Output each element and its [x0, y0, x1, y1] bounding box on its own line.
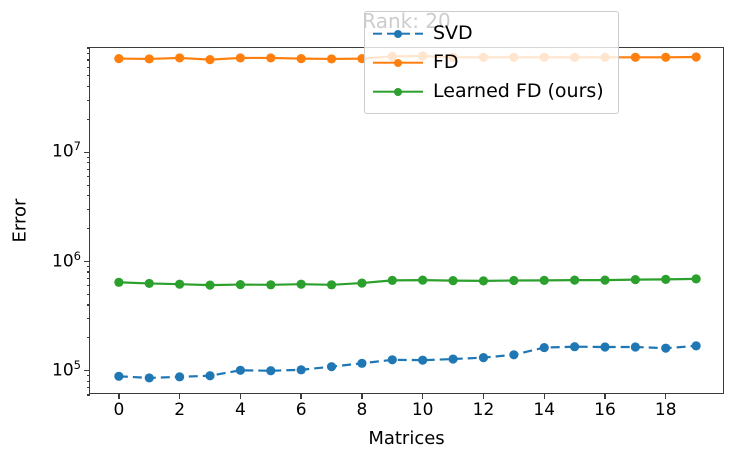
y-minor-tick-mark	[87, 318, 91, 319]
data-point	[266, 366, 275, 375]
y-minor-tick-mark	[87, 304, 91, 305]
x-axis-label: Matrices	[89, 428, 724, 449]
x-tick-label: 4	[235, 402, 246, 419]
x-tick-mark	[483, 393, 484, 399]
data-point	[692, 52, 701, 61]
data-point	[236, 53, 245, 62]
data-point	[540, 343, 549, 352]
legend-label-fd: FD	[433, 53, 459, 72]
data-point	[692, 341, 701, 350]
data-point	[297, 54, 306, 63]
x-tick-label: 2	[174, 402, 185, 419]
data-point	[266, 280, 275, 289]
data-point	[600, 342, 609, 351]
x-tick-label: 16	[594, 402, 616, 419]
legend-swatch-learned-fd	[373, 85, 423, 99]
y-minor-tick-mark	[87, 266, 91, 267]
x-tick-label: 0	[113, 402, 124, 419]
data-point	[297, 280, 306, 289]
x-tick-mark	[361, 393, 362, 399]
x-tick-mark	[118, 393, 119, 399]
y-minor-tick-mark	[87, 387, 91, 388]
y-minor-tick-mark	[87, 185, 91, 186]
data-point	[661, 275, 670, 284]
data-point	[236, 280, 245, 289]
y-minor-tick-mark	[87, 228, 91, 229]
data-point	[388, 276, 397, 285]
x-tick-label: 18	[655, 402, 677, 419]
y-minor-tick-mark	[87, 86, 91, 87]
data-point	[327, 362, 336, 371]
y-minor-tick-mark	[87, 375, 91, 376]
x-tick-mark	[422, 393, 423, 399]
y-minor-tick-mark	[87, 278, 91, 279]
data-point	[205, 55, 214, 64]
y-tick-label: 106	[52, 253, 81, 270]
x-tick-mark	[544, 393, 545, 399]
legend-item-fd[interactable]: FD	[373, 48, 608, 77]
y-tick-label: 107	[52, 144, 81, 161]
data-point	[266, 53, 275, 62]
x-tick-mark	[300, 393, 301, 399]
data-point	[297, 365, 306, 374]
data-point	[388, 355, 397, 364]
x-tick-label: 12	[473, 402, 495, 419]
legend-swatch-fd	[373, 56, 423, 70]
data-point	[236, 366, 245, 375]
data-point	[448, 276, 457, 285]
data-point	[631, 53, 640, 62]
data-point	[145, 373, 154, 382]
legend-label-learned-fd: Learned FD (ours)	[433, 82, 604, 101]
data-point	[631, 275, 640, 284]
x-tick-label: 8	[357, 402, 368, 419]
y-minor-tick-mark	[87, 157, 91, 158]
legend: SVD FD Learned FD (ours)	[364, 11, 619, 114]
y-minor-tick-mark	[87, 394, 91, 395]
legend-label-svd: SVD	[433, 24, 473, 43]
data-point	[205, 371, 214, 380]
y-tick-mark	[84, 261, 90, 262]
y-minor-tick-mark	[87, 119, 91, 120]
data-point	[509, 350, 518, 359]
y-minor-tick-mark	[87, 337, 91, 338]
legend-swatch-svd	[373, 27, 423, 41]
legend-marker-icon	[394, 59, 402, 67]
data-point	[175, 372, 184, 381]
data-point	[327, 54, 336, 63]
x-tick-mark	[604, 393, 605, 399]
data-point	[114, 278, 123, 287]
data-point	[145, 279, 154, 288]
data-point	[479, 276, 488, 285]
x-tick-mark	[240, 393, 241, 399]
data-point	[145, 54, 154, 63]
data-point	[448, 354, 457, 363]
data-point	[327, 280, 336, 289]
x-tick-label: 6	[296, 402, 307, 419]
data-point	[479, 353, 488, 362]
data-point	[114, 372, 123, 381]
series-line-svd	[119, 346, 696, 378]
data-point	[540, 276, 549, 285]
y-minor-tick-mark	[87, 67, 91, 68]
y-minor-tick-mark	[87, 271, 91, 272]
y-tick-mark	[84, 370, 90, 371]
y-minor-tick-mark	[87, 100, 91, 101]
data-point	[509, 276, 518, 285]
legend-item-svd[interactable]: SVD	[373, 19, 608, 48]
data-point	[661, 344, 670, 353]
data-point	[175, 280, 184, 289]
data-point	[418, 356, 427, 365]
y-axis-label-text: Error	[10, 199, 31, 243]
figure-canvas: Rank: 20 Error Matrices 0246810121416181…	[0, 0, 747, 467]
x-tick-mark	[179, 393, 180, 399]
y-minor-tick-mark	[87, 53, 91, 54]
y-minor-tick-mark	[87, 294, 91, 295]
data-point	[600, 275, 609, 284]
y-minor-tick-mark	[87, 162, 91, 163]
data-point	[631, 342, 640, 351]
data-point	[357, 278, 366, 287]
x-tick-label: 14	[533, 402, 555, 419]
data-point	[114, 54, 123, 63]
data-point	[570, 342, 579, 351]
legend-marker-icon	[394, 88, 402, 96]
data-point	[570, 275, 579, 284]
y-minor-tick-mark	[87, 47, 91, 48]
y-minor-tick-mark	[87, 195, 91, 196]
x-tick-mark	[665, 393, 666, 399]
data-point	[661, 53, 670, 62]
y-minor-tick-mark	[87, 59, 91, 60]
y-axis-label: Error	[8, 47, 32, 394]
legend-item-learned-fd[interactable]: Learned FD (ours)	[373, 77, 608, 106]
y-minor-tick-mark	[87, 285, 91, 286]
data-point	[205, 281, 214, 290]
y-tick-mark	[84, 152, 90, 153]
data-point	[692, 274, 701, 283]
y-minor-tick-mark	[87, 176, 91, 177]
legend-marker-icon	[394, 30, 402, 38]
y-minor-tick-mark	[87, 75, 91, 76]
data-point	[175, 53, 184, 62]
y-minor-tick-mark	[87, 381, 91, 382]
y-minor-tick-mark	[87, 169, 91, 170]
x-tick-label: 10	[412, 402, 434, 419]
data-point	[357, 359, 366, 368]
y-tick-label: 105	[52, 362, 81, 379]
data-point	[418, 275, 427, 284]
y-minor-tick-mark	[87, 209, 91, 210]
